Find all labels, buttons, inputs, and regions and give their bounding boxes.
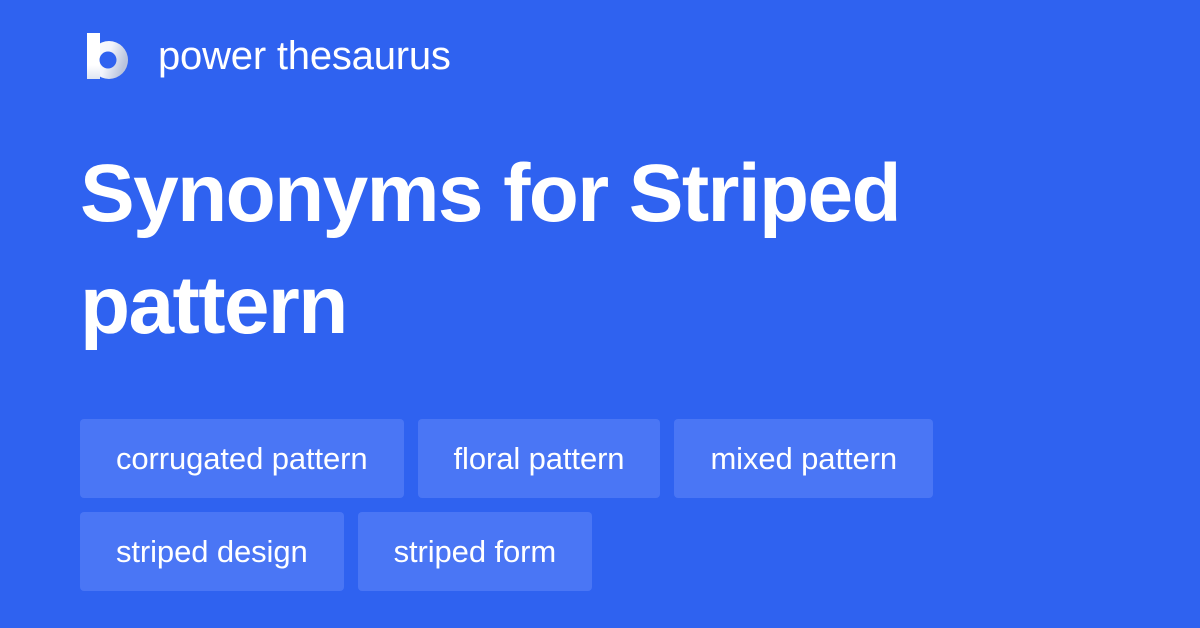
power-thesaurus-b-logo-icon: [80, 30, 132, 82]
brand-lockup[interactable]: power thesaurus: [80, 28, 451, 84]
synonym-chip[interactable]: mixed pattern: [674, 419, 933, 498]
synonym-chip[interactable]: floral pattern: [418, 419, 661, 498]
synonym-chip[interactable]: corrugated pattern: [80, 419, 404, 498]
page-title: Synonyms for Striped pattern: [80, 138, 1080, 361]
synonym-chip-list: corrugated pattern floral pattern mixed …: [80, 419, 1120, 591]
synonym-chip[interactable]: striped form: [358, 512, 592, 591]
brand-name: power thesaurus: [158, 36, 451, 76]
synonym-chip[interactable]: striped design: [80, 512, 344, 591]
share-card: power thesaurus Synonyms for Striped pat…: [0, 0, 1200, 628]
